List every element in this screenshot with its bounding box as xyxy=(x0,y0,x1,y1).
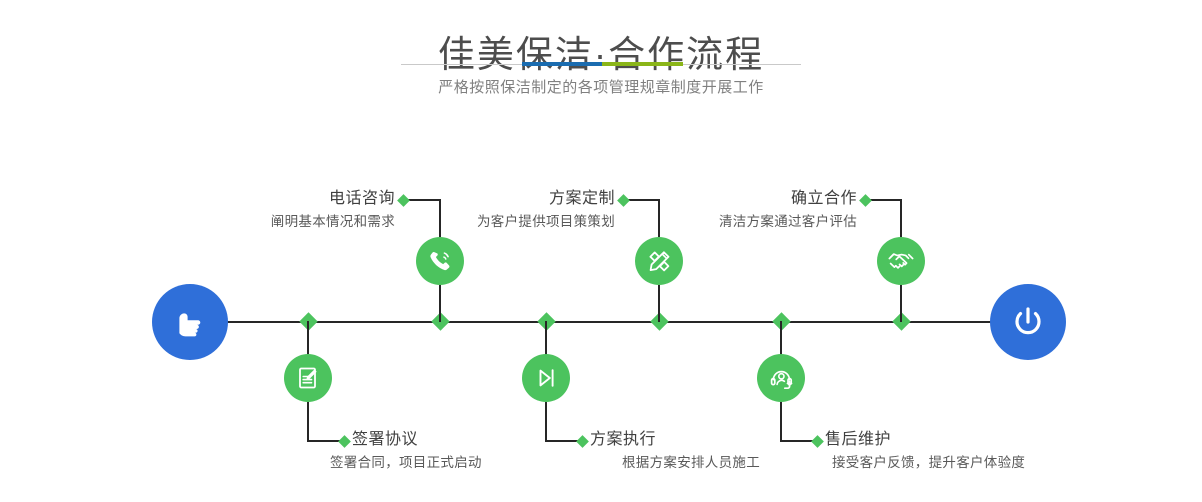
header: 佳美保洁·合作流程 xyxy=(0,32,1202,78)
divider-segment-green xyxy=(602,62,683,66)
timeline-connector-v-step-2 xyxy=(307,402,309,442)
timeline-stem-step-2 xyxy=(307,321,309,355)
timeline-icon-node-step-6 xyxy=(757,354,805,402)
phone-call-icon xyxy=(426,247,454,275)
handshake-icon xyxy=(887,247,915,275)
step-label-step-5: 确立合作 清洁方案通过客户评估 xyxy=(640,189,857,231)
timeline-connector-v-step-6 xyxy=(780,402,782,442)
timeline-icon-node-step-5 xyxy=(877,237,925,285)
timeline-stem-step-5 xyxy=(900,285,902,322)
pointing-hand-icon xyxy=(170,302,210,342)
timeline-connector-v-step-4 xyxy=(545,402,547,442)
step-title-step-3: 方案定制 xyxy=(400,189,615,209)
step-desc-step-1: 阐明基本情况和需求 xyxy=(180,212,395,231)
power-icon xyxy=(1007,301,1049,343)
step-label-step-4: 方案执行 根据方案安排人员施工 xyxy=(590,430,830,472)
step-label-step-1: 电话咨询 阐明基本情况和需求 xyxy=(180,189,395,231)
timeline-connector-tip-step-3 xyxy=(617,194,630,207)
step-label-step-6: 售后维护 接受客户反馈，提升客户体验度 xyxy=(825,430,1085,472)
customer-support-icon xyxy=(768,365,795,392)
cooperation-process-infographic: 佳美保洁·合作流程 严格按照保洁制定的各项管理规章制度开展工作 xyxy=(0,0,1202,502)
step-title-step-5: 确立合作 xyxy=(640,189,857,209)
timeline-stem-step-4 xyxy=(545,321,547,355)
timeline-icon-node-step-3 xyxy=(635,237,683,285)
timeline-connector-v-step-5 xyxy=(900,199,902,237)
timeline-icon-node-step-1 xyxy=(416,237,464,285)
step-desc-step-4: 根据方案安排人员施工 xyxy=(622,453,830,472)
step-title-step-6: 售后维护 xyxy=(825,430,1085,450)
timeline-connector-tip-step-5 xyxy=(859,194,872,207)
timeline-icon-node-step-4 xyxy=(522,354,570,402)
timeline-icon-node-step-2 xyxy=(284,354,332,402)
timeline-end-node xyxy=(990,284,1066,360)
step-title-step-1: 电话咨询 xyxy=(180,189,395,209)
divider-segment-blue xyxy=(522,62,602,66)
timeline-stem-step-6 xyxy=(780,321,782,355)
step-desc-step-2: 签署合同，项目正式启动 xyxy=(330,453,592,472)
step-label-step-2: 签署协议 签署合同，项目正式启动 xyxy=(352,430,592,472)
step-desc-step-6: 接受客户反馈，提升客户体验度 xyxy=(832,453,1085,472)
pencil-ruler-icon xyxy=(646,248,673,275)
step-label-step-3: 方案定制 为客户提供项目策策划 xyxy=(400,189,615,231)
timeline-connector-tip-step-2 xyxy=(338,435,351,448)
step-desc-step-3: 为客户提供项目策策划 xyxy=(400,212,615,231)
page-subtitle: 严格按照保洁制定的各项管理规章制度开展工作 xyxy=(0,76,1202,97)
title-divider xyxy=(401,62,801,66)
timeline-start-node xyxy=(152,284,228,360)
play-execute-icon xyxy=(533,365,559,391)
timeline-stem-step-1 xyxy=(439,285,441,322)
timeline-stem-step-3 xyxy=(658,285,660,322)
document-edit-icon xyxy=(295,365,321,391)
step-desc-step-5: 清洁方案通过客户评估 xyxy=(640,212,857,231)
page-title: 佳美保洁·合作流程 xyxy=(0,32,1202,78)
